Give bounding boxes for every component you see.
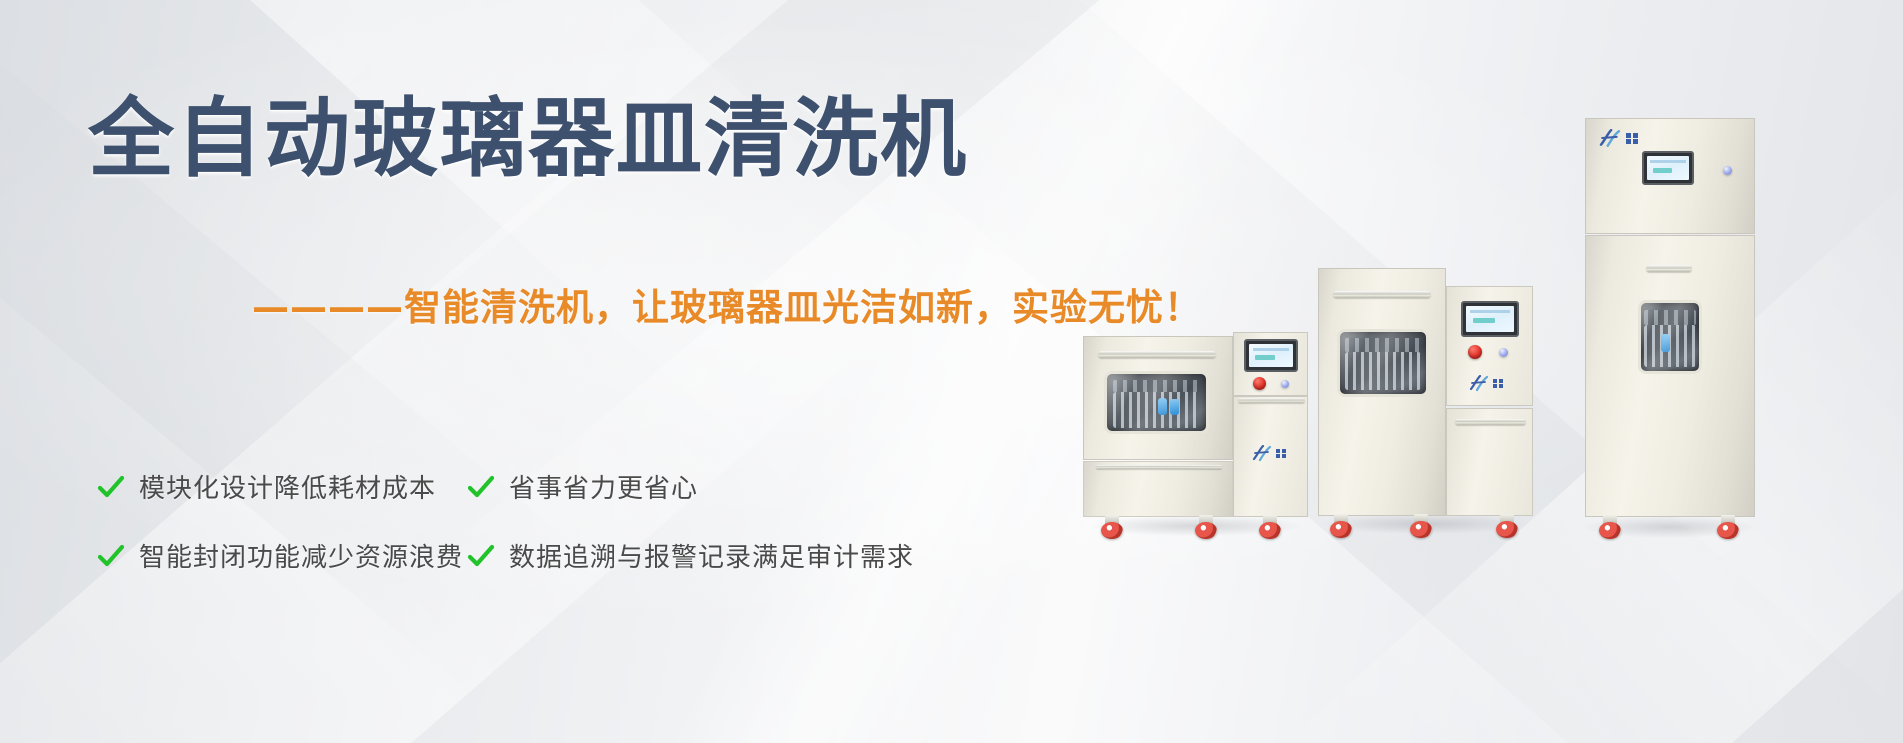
glass-reflection (1340, 332, 1426, 394)
feature-item-4: 数据追溯与报警记录满足审计需求 (466, 537, 1026, 574)
status-indicator (1281, 380, 1289, 388)
check-icon (96, 541, 126, 571)
check-icon (96, 472, 126, 502)
viewing-window (1337, 329, 1429, 397)
drawer-handle (1455, 419, 1526, 425)
viewing-window (1638, 300, 1702, 374)
touchscreen[interactable] (1642, 151, 1694, 185)
door-handle (1098, 351, 1216, 358)
status-indicator (1499, 348, 1508, 357)
wash-chamber-door (1083, 336, 1233, 460)
banner-headline: 全自动玻璃器皿清洗机 (88, 96, 968, 182)
drawer-handle (1096, 465, 1222, 469)
logo-squares (1276, 449, 1286, 459)
feature-item-1: 模块化设计降低耗材成本 (96, 468, 466, 505)
lower-drawer (1083, 461, 1233, 517)
brand-logo (1251, 445, 1286, 462)
logo-squares (1626, 133, 1638, 145)
logo-squares (1493, 379, 1503, 389)
feature-label: 智能封闭功能减少资源浪费 (139, 537, 463, 574)
door-handle (1646, 265, 1692, 272)
emergency-stop-button[interactable] (1468, 345, 1482, 359)
feature-list: 模块化设计降低耗材成本 省事省力更省心 智能封闭功能减少资源浪费 (96, 468, 1096, 606)
brand-logo (1597, 129, 1638, 148)
check-icon (466, 472, 496, 502)
product-banner: 全自动玻璃器皿清洗机 ————智能清洗机，让玻璃器皿光洁如新，实验无忧！ 模块化… (0, 0, 1903, 743)
banner-subheadline: ————智能清洗机，让玻璃器皿光洁如新，实验无忧！ (252, 288, 1202, 329)
product-freestanding-washer (1318, 268, 1533, 530)
feature-label: 数据追溯与报警记录满足审计需求 (509, 537, 914, 574)
feature-item-2: 省事省力更省心 (466, 468, 1026, 505)
wash-chamber-door (1318, 268, 1446, 516)
panel-trim (1238, 398, 1305, 403)
brand-logo (1468, 375, 1503, 392)
lower-drawer (1446, 408, 1533, 516)
caster-wheel (1599, 515, 1621, 539)
glass-reflection (1107, 374, 1206, 431)
product-image-group (1073, 0, 1903, 743)
door-handle (1333, 291, 1431, 298)
touchscreen-display (1249, 344, 1293, 367)
caster-wheel (1101, 515, 1123, 539)
product-tall-column-washer (1585, 118, 1755, 530)
caster-wheel (1195, 515, 1217, 539)
touchscreen[interactable] (1244, 339, 1298, 372)
touchscreen-display (1647, 156, 1689, 180)
touchscreen-display (1466, 306, 1514, 332)
touchscreen[interactable] (1461, 301, 1519, 337)
feature-row: 模块化设计降低耗材成本 省事省力更省心 (96, 468, 1096, 505)
control-panel (1446, 286, 1533, 406)
feature-label: 模块化设计降低耗材成本 (139, 468, 436, 505)
viewing-window (1104, 371, 1209, 434)
lower-cabinet (1585, 235, 1755, 517)
caster-wheel (1717, 515, 1739, 539)
caster-wheel (1259, 515, 1281, 539)
control-panel (1233, 332, 1308, 396)
product-undercounter-washer (1083, 330, 1308, 530)
feature-row: 智能封闭功能减少资源浪费 数据追溯与报警记录满足审计需求 (96, 537, 1096, 574)
emergency-stop-button[interactable] (1253, 377, 1266, 390)
feature-item-3: 智能封闭功能减少资源浪费 (96, 537, 466, 574)
check-icon (466, 541, 496, 571)
caster-wheel (1330, 514, 1352, 538)
copy-block: 全自动玻璃器皿清洗机 ————智能清洗机，让玻璃器皿光洁如新，实验无忧！ 模块化… (0, 0, 1120, 743)
upper-cabinet (1585, 118, 1755, 234)
feature-label: 省事省力更省心 (509, 468, 698, 505)
caster-wheel (1410, 514, 1432, 538)
status-indicator (1723, 166, 1732, 175)
control-column-lower (1233, 396, 1308, 517)
caster-wheel (1496, 514, 1518, 538)
glass-reflection (1641, 303, 1699, 371)
